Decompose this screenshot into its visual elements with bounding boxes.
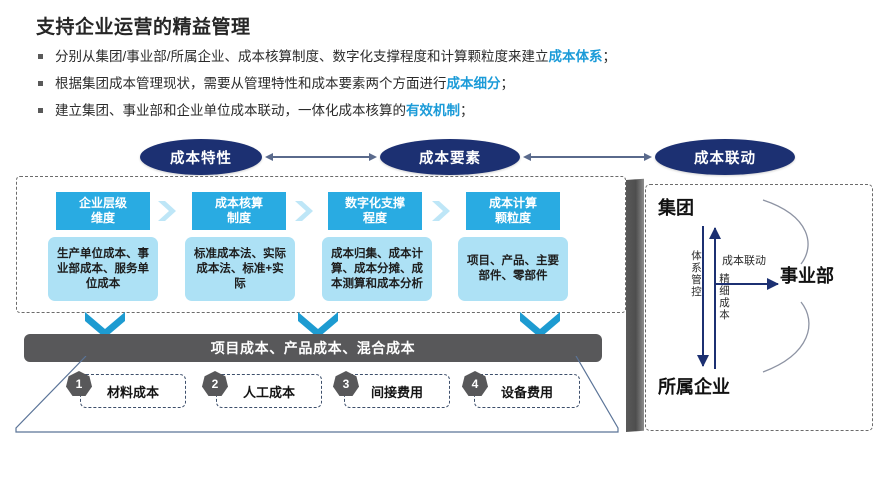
bullet-suffix: ； [460, 103, 474, 118]
ellipse-cost-linkage: 成本联动 [655, 139, 795, 175]
column-header-line2: 维度 [91, 211, 115, 226]
bullet-text: 根据集团成本管理现状，需要从管理特性和成本要素两个方面进行 [55, 76, 447, 91]
bullet-marker-icon [38, 54, 43, 59]
ellipse-cost-characteristics: 成本特性 [140, 139, 262, 175]
double-arrow-icon [530, 156, 645, 158]
column-header-line2: 程度 [363, 211, 387, 226]
list-item: 分别从集团/事业部/所属企业、成本核算制度、数字化支撑程度和计算颗粒度来建立成本… [38, 48, 798, 65]
chevron-right-icon [293, 200, 315, 222]
column-header-cost-accounting: 成本核算 制度 [192, 192, 286, 230]
column-header-line2: 颗粒度 [495, 211, 531, 226]
bullet-marker-icon [38, 108, 43, 113]
column-header-line1: 企业层级 [79, 196, 127, 211]
column-header-digital-support: 数字化支撑 程度 [328, 192, 422, 230]
right-panel-arrows [645, 184, 871, 429]
column-body-enterprise-level: 生产单位成本、事业部成本、服务单位成本 [48, 237, 158, 301]
column-header-line1: 数字化支撑 [345, 196, 405, 211]
ellipse-cost-elements: 成本要素 [380, 139, 520, 175]
bullet-highlight: 有效机制 [406, 103, 460, 118]
double-arrow-icon [272, 156, 370, 158]
bullet-text: 建立集团、事业部和企业单位成本联动，一体化成本核算的 [55, 103, 406, 118]
column-header-line1: 成本核算 [215, 196, 263, 211]
column-header-line2: 制度 [227, 211, 251, 226]
numbered-item-labor-cost: 人工成本 [216, 374, 322, 408]
list-item: 根据集团成本管理现状，需要从管理特性和成本要素两个方面进行成本细分； [38, 75, 798, 92]
column-header-cost-granularity: 成本计算 颗粒度 [466, 192, 560, 230]
column-body-cost-granularity: 项目、产品、主要部件、零部件 [458, 237, 568, 301]
list-item: 建立集团、事业部和企业单位成本联动，一体化成本核算的有效机制； [38, 102, 798, 119]
chevron-right-icon [156, 200, 178, 222]
bullet-marker-icon [38, 81, 43, 86]
bullet-suffix: ； [501, 76, 515, 91]
bullet-highlight: 成本体系 [549, 49, 603, 64]
column-body-cost-accounting: 标准成本法、实际成本法、标准+实际 [185, 237, 295, 301]
chevron-right-icon [430, 200, 452, 222]
bullet-highlight: 成本细分 [447, 76, 501, 91]
three-d-slab [626, 179, 644, 432]
numbered-item-material-cost: 材料成本 [80, 374, 186, 408]
gray-summary-bar: 项目成本、产品成本、混合成本 [24, 334, 602, 362]
bullet-list: 分别从集团/事业部/所属企业、成本核算制度、数字化支撑程度和计算颗粒度来建立成本… [38, 48, 798, 129]
bullet-suffix: ； [603, 49, 617, 64]
page-title: 支持企业运营的精益管理 [36, 12, 251, 39]
column-header-enterprise-level: 企业层级 维度 [56, 192, 150, 230]
bullet-text: 分别从集团/事业部/所属企业、成本核算制度、数字化支撑程度和计算颗粒度来建立 [55, 49, 549, 64]
numbered-item-indirect-cost: 间接费用 [344, 374, 450, 408]
column-header-line1: 成本计算 [489, 196, 537, 211]
numbered-item-equipment-cost: 设备费用 [474, 374, 580, 408]
column-body-digital-support: 成本归集、成本计算、成本分摊、成本测算和成本分析 [322, 237, 432, 301]
